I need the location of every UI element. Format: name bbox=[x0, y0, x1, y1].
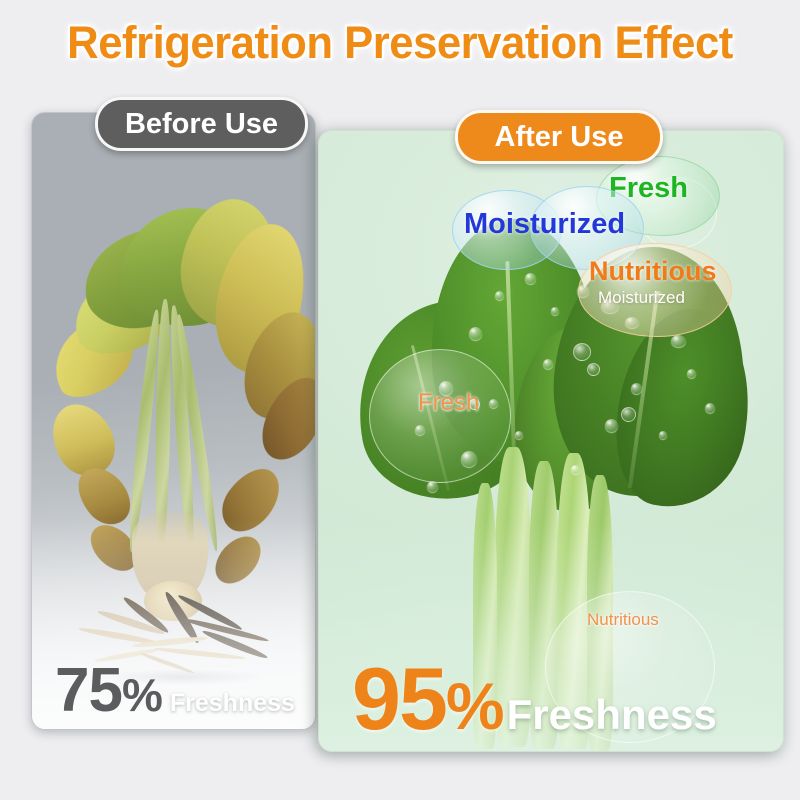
after-freshness-value: 95 bbox=[352, 648, 446, 750]
water-droplet bbox=[659, 431, 667, 439]
water-droplet bbox=[469, 327, 482, 340]
wilted-dry-leaf bbox=[212, 458, 290, 542]
before-freshness-value: 75 bbox=[55, 655, 122, 726]
before-use-panel bbox=[31, 112, 316, 730]
water-droplet bbox=[515, 431, 523, 439]
badge-after-use: After Use bbox=[455, 110, 663, 164]
mini-bubble bbox=[573, 343, 591, 361]
water-droplet bbox=[495, 291, 504, 300]
mini-bubble bbox=[587, 363, 600, 376]
overlay-label-nutritious: Nutritious bbox=[587, 610, 659, 630]
benefit-label-nutritious: Nutritious bbox=[589, 256, 717, 287]
after-freshness-stat: 95 % Freshness bbox=[352, 648, 717, 750]
before-percent-symbol: % bbox=[122, 668, 163, 722]
water-droplet bbox=[705, 403, 715, 413]
water-droplet bbox=[543, 359, 553, 369]
water-droplet bbox=[525, 273, 536, 284]
before-freshness-stat: 75 % Freshness bbox=[55, 655, 295, 726]
wilted-vegetable-image bbox=[32, 113, 315, 729]
benefit-bubble-nutritious: Nutritious Moisturized bbox=[578, 243, 730, 335]
water-droplet bbox=[605, 419, 618, 432]
benefit-label-moisturized: Moisturized bbox=[464, 208, 625, 241]
water-droplet bbox=[551, 307, 559, 315]
benefit-sublabel-moisturized: Moisturized bbox=[598, 288, 685, 308]
after-freshness-label: Freshness bbox=[507, 691, 717, 739]
water-droplet bbox=[671, 335, 686, 347]
badge-before-use: Before Use bbox=[95, 97, 308, 151]
water-droplet bbox=[631, 383, 642, 394]
water-droplet bbox=[571, 465, 580, 474]
overlay-label-fresh: Fresh bbox=[418, 389, 479, 417]
after-percent-symbol: % bbox=[446, 668, 505, 744]
page-title: Refrigeration Preservation Effect bbox=[12, 17, 788, 69]
mini-bubble bbox=[621, 407, 636, 422]
before-freshness-label: Freshness bbox=[170, 689, 295, 718]
water-droplet bbox=[687, 369, 696, 378]
